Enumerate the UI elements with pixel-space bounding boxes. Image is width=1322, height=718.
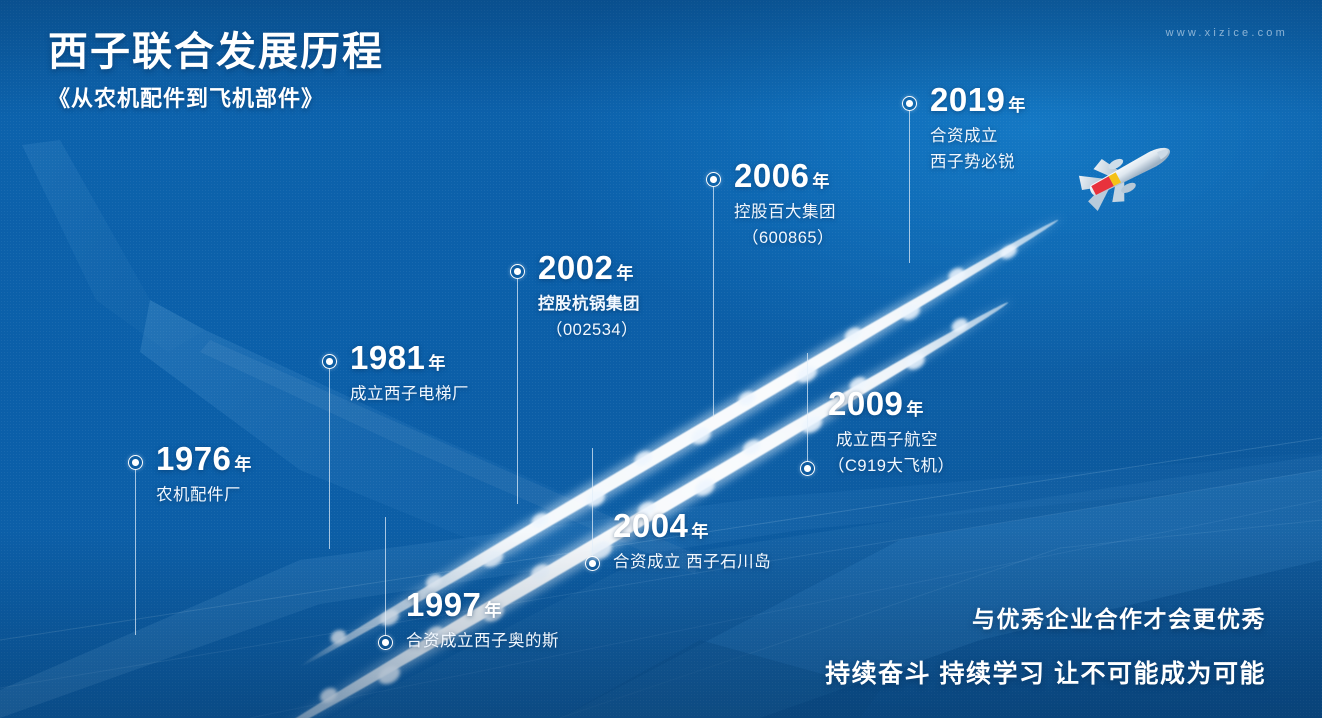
milestone-desc-line: （600865）	[734, 227, 836, 251]
milestone-label: 2006年 控股百大集团 （600865）	[734, 159, 836, 251]
year-unit: 年	[484, 601, 501, 620]
milestone-dot[interactable]	[128, 455, 143, 470]
milestone-desc-line: 合资成立西子奥的斯	[406, 630, 559, 654]
year-number: 2002	[538, 249, 613, 286]
milestone-stem	[385, 517, 386, 635]
milestone-year: 2006年	[734, 159, 836, 192]
year-number: 2009	[828, 385, 903, 422]
page-subtitle: 《从农机配件到飞机部件》	[48, 81, 384, 113]
milestone-label: 1981年 成立西子电梯厂	[350, 341, 469, 407]
milestone-stem	[329, 369, 330, 549]
milestone-stem	[807, 353, 808, 461]
slogan-line-1: 与优秀企业合作才会更优秀	[825, 600, 1266, 634]
year-unit: 年	[812, 172, 829, 191]
year-number: 1997	[406, 586, 481, 623]
milestone-stem	[713, 187, 714, 417]
milestone-year: 1976年	[156, 442, 251, 475]
infographic-poster: 西子联合发展历程 《从农机配件到飞机部件》 www.xizice.com	[0, 0, 1322, 718]
milestone-dot[interactable]	[585, 556, 600, 571]
site-watermark: www.xizice.com	[1166, 27, 1288, 39]
headline-block: 西子联合发展历程 《从农机配件到飞机部件》	[48, 30, 384, 113]
year-number: 2004	[613, 507, 688, 544]
milestone-stem	[135, 470, 136, 635]
milestone-desc-line: 控股百大集团	[734, 201, 836, 225]
milestone-year: 2009年	[828, 387, 954, 420]
milestone-desc-line: 西子势必锐	[930, 151, 1025, 175]
milestone-dot[interactable]	[510, 264, 525, 279]
page-title: 西子联合发展历程	[48, 30, 384, 75]
year-unit: 年	[428, 354, 445, 373]
milestone-label: 1997年 合资成立西子奥的斯	[406, 588, 559, 654]
year-unit: 年	[616, 264, 633, 283]
airplane-icon	[1060, 128, 1190, 223]
milestone-desc-line: 控股杭锅集团	[538, 293, 640, 317]
milestone-desc-line: 农机配件厂	[156, 484, 251, 508]
year-number: 1976	[156, 440, 231, 477]
milestone-dot[interactable]	[902, 96, 917, 111]
milestone-desc-line: 合资成立	[930, 125, 1025, 149]
year-unit: 年	[906, 400, 923, 419]
milestone-desc-line: 成立西子航空	[828, 429, 954, 453]
milestone-dot[interactable]	[800, 461, 815, 476]
milestone-label: 2019年 合资成立 西子势必锐	[930, 83, 1025, 175]
milestone-stem	[909, 111, 910, 263]
year-number: 1981	[350, 339, 425, 376]
footer-slogans: 与优秀企业合作才会更优秀 持续奋斗 持续学习 让不可能成为可能	[825, 600, 1266, 690]
year-number: 2019	[930, 81, 1005, 118]
milestone-label: 1976年 农机配件厂	[156, 442, 251, 508]
milestone-label: 2002年 控股杭锅集团 （002534）	[538, 251, 640, 343]
milestone-year: 2019年	[930, 83, 1025, 116]
milestone-year: 1997年	[406, 588, 559, 621]
year-unit: 年	[1008, 96, 1025, 115]
year-number: 2006	[734, 157, 809, 194]
milestone-year: 1981年	[350, 341, 469, 374]
year-unit: 年	[691, 522, 708, 541]
milestone-desc-line: 成立西子电梯厂	[350, 383, 469, 407]
milestone-year: 2004年	[613, 509, 771, 542]
milestone-label: 2009年 成立西子航空 （C919大飞机）	[828, 387, 954, 479]
milestone-dot[interactable]	[706, 172, 721, 187]
milestone-year: 2002年	[538, 251, 640, 284]
milestone-desc-line: 合资成立 西子石川岛	[613, 551, 771, 575]
milestone-dot[interactable]	[378, 635, 393, 650]
milestone-stem	[517, 279, 518, 504]
year-unit: 年	[234, 455, 251, 474]
milestone-stem	[592, 448, 593, 556]
milestone-label: 2004年 合资成立 西子石川岛	[613, 509, 771, 575]
slogan-line-2: 持续奋斗 持续学习 让不可能成为可能	[825, 654, 1266, 690]
milestone-desc-line: （C919大飞机）	[828, 455, 954, 479]
milestone-desc-line: （002534）	[538, 319, 640, 343]
milestone-dot[interactable]	[322, 354, 337, 369]
